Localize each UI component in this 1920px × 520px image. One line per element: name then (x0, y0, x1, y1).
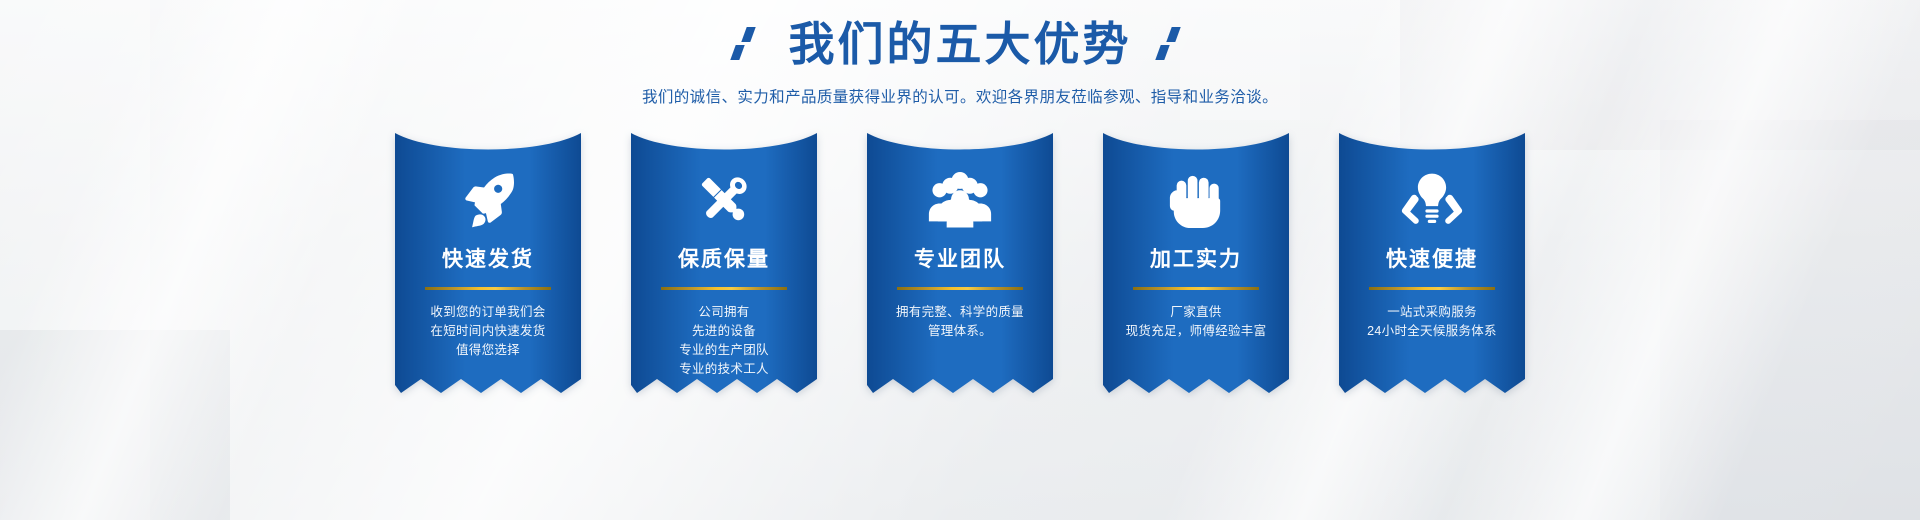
card-title: 保质保量 (678, 243, 770, 273)
page-title: 我们的五大优势 (789, 18, 1132, 71)
card-description-line: 厂家直供 (1126, 303, 1267, 322)
advantage-card[interactable]: 快速发货 收到您的订单我们会在短时间内快速发货值得您选择 (395, 133, 581, 393)
advantage-card[interactable]: 快速便捷 一站式采购服务24小时全天候服务体系 (1339, 133, 1525, 393)
rocket-icon (457, 161, 519, 239)
card-content: 加工实力 厂家直供现货充足，师傅经验丰富 (1103, 133, 1289, 393)
page-subtitle: 我们的诚信、实力和产品质量获得业界的认可。欢迎各界朋友莅临参观、指导和业务洽谈。 (0, 85, 1920, 107)
tools-icon (693, 161, 755, 239)
card-description-line: 值得您选择 (430, 341, 545, 360)
card-description-line: 先进的设备 (679, 322, 769, 341)
card-divider (1133, 287, 1259, 290)
card-description-line: 公司拥有 (679, 303, 769, 322)
card-description-line: 管理体系。 (896, 322, 1024, 341)
card-content: 快速便捷 一站式采购服务24小时全天候服务体系 (1339, 133, 1525, 393)
card-description-line: 24小时全天候服务体系 (1367, 322, 1497, 341)
card-title: 加工实力 (1150, 243, 1242, 273)
slash-ornament-left-icon (733, 27, 763, 61)
card-description-line: 专业的技术工人 (679, 360, 769, 379)
card-description-line: 拥有完整、科学的质量 (896, 303, 1024, 322)
card-description-line: 在短时间内快速发货 (430, 322, 545, 341)
card-description: 一站式采购服务24小时全天候服务体系 (1367, 303, 1497, 341)
card-divider (897, 287, 1023, 290)
advantage-card[interactable]: 专业团队 拥有完整、科学的质量管理体系。 (867, 133, 1053, 393)
card-content: 保质保量 公司拥有先进的设备专业的生产团队专业的技术工人 (631, 133, 817, 393)
card-description-line: 一站式采购服务 (1367, 303, 1497, 322)
advantage-card[interactable]: 保质保量 公司拥有先进的设备专业的生产团队专业的技术工人 (631, 133, 817, 393)
title-row: 我们的五大优势 (0, 18, 1920, 71)
card-description-line: 收到您的订单我们会 (430, 303, 545, 322)
card-divider (425, 287, 551, 290)
card-description: 厂家直供现货充足，师傅经验丰富 (1126, 303, 1267, 341)
advantage-card[interactable]: 加工实力 厂家直供现货充足，师傅经验丰富 (1103, 133, 1289, 393)
card-title: 快速便捷 (1386, 243, 1478, 273)
lightbulb-hands-icon (1400, 161, 1464, 239)
slash-ornament-right-icon (1158, 27, 1188, 61)
fist-icon (1167, 161, 1225, 239)
card-divider (661, 287, 787, 290)
card-content: 专业团队 拥有完整、科学的质量管理体系。 (867, 133, 1053, 393)
team-icon (928, 161, 992, 239)
card-description: 公司拥有先进的设备专业的生产团队专业的技术工人 (679, 303, 769, 379)
card-description-line: 专业的生产团队 (679, 341, 769, 360)
advantage-card-list: 快速发货 收到您的订单我们会在短时间内快速发货值得您选择 (395, 133, 1525, 393)
card-description: 拥有完整、科学的质量管理体系。 (896, 303, 1024, 341)
card-title: 快速发货 (442, 243, 534, 273)
card-description-line: 现货充足，师傅经验丰富 (1126, 322, 1267, 341)
section-header: 我们的五大优势 我们的诚信、实力和产品质量获得业界的认可。欢迎各界朋友莅临参观、… (0, 0, 1920, 107)
card-description: 收到您的订单我们会在短时间内快速发货值得您选择 (430, 303, 545, 360)
card-title: 专业团队 (914, 243, 1006, 273)
card-divider (1369, 287, 1495, 290)
card-content: 快速发货 收到您的订单我们会在短时间内快速发货值得您选择 (395, 133, 581, 393)
